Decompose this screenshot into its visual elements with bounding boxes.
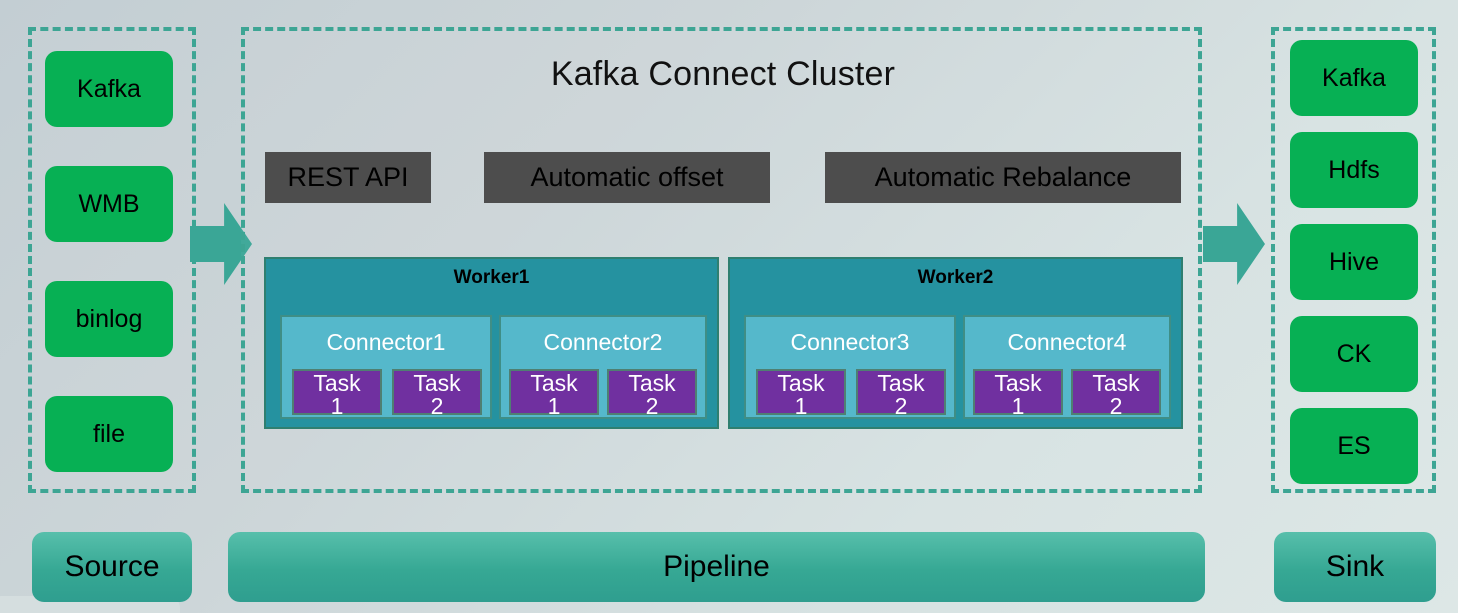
connector-3[interactable]: Connector3 Task 1 Task 2: [744, 315, 956, 419]
task-line-1: Task: [758, 372, 844, 395]
sink-item-hive[interactable]: Hive: [1290, 224, 1418, 300]
connector-label: Connector1: [282, 331, 490, 354]
task-line-2: 2: [858, 395, 944, 418]
connector-1[interactable]: Connector1 Task 1 Task 2: [280, 315, 492, 419]
sink-item-label: Hdfs: [1328, 156, 1379, 185]
task-item[interactable]: Task 1: [973, 369, 1063, 415]
sink-item-label: Hive: [1329, 248, 1379, 277]
feature-automatic-offset[interactable]: Automatic offset: [484, 152, 770, 203]
sink-item-kafka[interactable]: Kafka: [1290, 40, 1418, 116]
page-title: Kafka Connect Cluster: [248, 55, 1198, 94]
sink-footer-bar[interactable]: Sink: [1274, 532, 1436, 602]
task-item[interactable]: Task 2: [1071, 369, 1161, 415]
worker-2[interactable]: Worker2 Connector3 Task 1 Task 2 Connect…: [728, 257, 1183, 429]
task-item[interactable]: Task 2: [856, 369, 946, 415]
source-item-kafka[interactable]: Kafka: [45, 51, 173, 127]
pipeline-footer-label: Pipeline: [663, 550, 770, 584]
task-line-1: Task: [294, 372, 380, 395]
feature-automatic-rebalance[interactable]: Automatic Rebalance: [825, 152, 1181, 203]
source-item-label: binlog: [76, 305, 143, 334]
task-line-1: Task: [394, 372, 480, 395]
task-item[interactable]: Task 1: [509, 369, 599, 415]
source-footer-label: Source: [64, 550, 159, 584]
task-line-2: 2: [1073, 395, 1159, 418]
sink-item-hdfs[interactable]: Hdfs: [1290, 132, 1418, 208]
worker-label: Worker1: [266, 267, 717, 289]
source-item-binlog[interactable]: binlog: [45, 281, 173, 357]
task-line-2: 1: [294, 395, 380, 418]
task-line-2: 2: [609, 395, 695, 418]
task-item[interactable]: Task 1: [756, 369, 846, 415]
feature-label: Automatic offset: [530, 162, 723, 193]
connector-4[interactable]: Connector4 Task 1 Task 2: [963, 315, 1171, 419]
source-item-label: file: [93, 420, 125, 449]
task-line-2: 1: [758, 395, 844, 418]
task-line-1: Task: [975, 372, 1061, 395]
task-item[interactable]: Task 1: [292, 369, 382, 415]
source-item-file[interactable]: file: [45, 396, 173, 472]
sink-item-label: CK: [1337, 340, 1372, 369]
task-item[interactable]: Task 2: [607, 369, 697, 415]
source-item-label: WMB: [78, 190, 139, 219]
diagram-canvas: Kafka WMB binlog file Kafka Connect Clus…: [0, 0, 1458, 613]
task-line-1: Task: [858, 372, 944, 395]
task-line-1: Task: [511, 372, 597, 395]
sink-item-label: Kafka: [1322, 64, 1386, 93]
task-line-2: 2: [394, 395, 480, 418]
sink-item-ck[interactable]: CK: [1290, 316, 1418, 392]
worker-1[interactable]: Worker1 Connector1 Task 1 Task 2 Connect…: [264, 257, 719, 429]
cluster-to-sink-arrow: [1203, 203, 1265, 285]
connector-label: Connector2: [501, 331, 705, 354]
worker-label: Worker2: [730, 267, 1181, 289]
sink-item-label: ES: [1337, 432, 1370, 461]
feature-rest-api[interactable]: REST API: [265, 152, 431, 203]
sink-footer-label: Sink: [1326, 550, 1384, 584]
feature-label: REST API: [287, 162, 408, 193]
connector-label: Connector4: [965, 331, 1169, 354]
task-item[interactable]: Task 2: [392, 369, 482, 415]
task-line-2: 1: [975, 395, 1061, 418]
task-line-1: Task: [609, 372, 695, 395]
task-line-2: 1: [511, 395, 597, 418]
source-item-wmb[interactable]: WMB: [45, 166, 173, 242]
connector-2[interactable]: Connector2 Task 1 Task 2: [499, 315, 707, 419]
connector-label: Connector3: [746, 331, 954, 354]
sink-item-es[interactable]: ES: [1290, 408, 1418, 484]
feature-label: Automatic Rebalance: [875, 162, 1132, 193]
pipeline-footer-bar[interactable]: Pipeline: [228, 532, 1205, 602]
task-line-1: Task: [1073, 372, 1159, 395]
source-footer-bar[interactable]: Source: [32, 532, 192, 602]
source-item-label: Kafka: [77, 75, 141, 104]
